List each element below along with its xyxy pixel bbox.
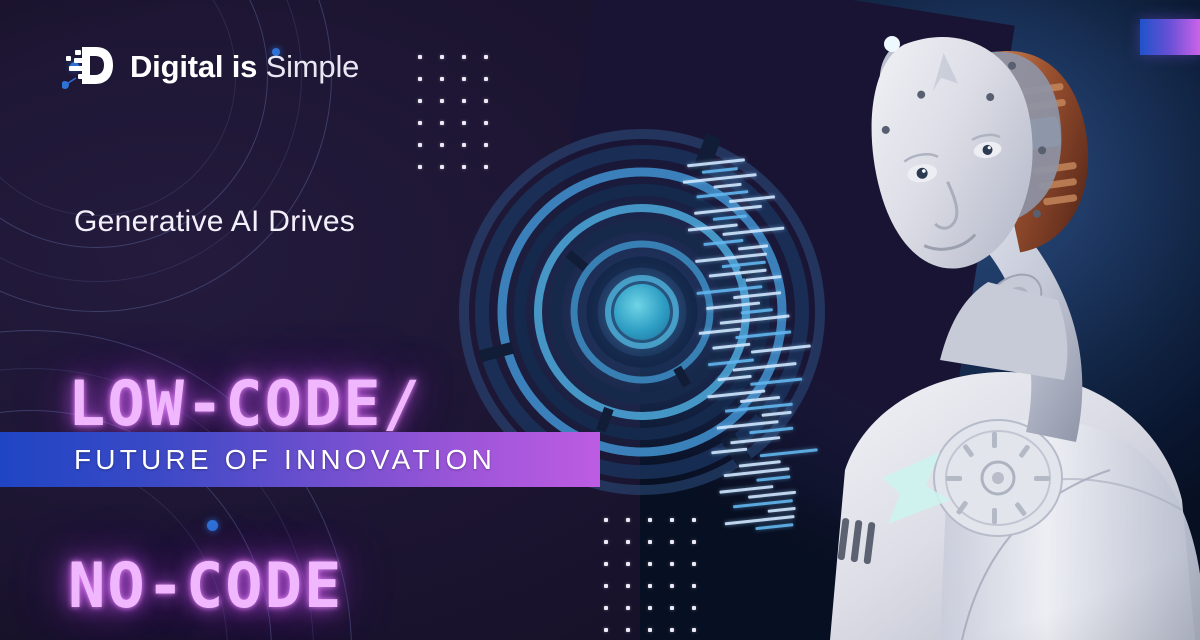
grid-dot	[648, 628, 652, 632]
grid-dot	[626, 606, 630, 610]
grid-dot	[626, 518, 630, 522]
promo-banner: Digital is Simple Generative AI Drives L…	[0, 0, 1200, 640]
grid-dot	[692, 606, 696, 610]
brand-name-bold: Digital is	[130, 49, 257, 84]
grid-dot	[648, 518, 652, 522]
grid-dot	[626, 584, 630, 588]
grid-dot	[484, 55, 488, 59]
hero-ribbon-label: FUTURE OF INNOVATION	[74, 444, 496, 476]
headline-line-2: NO-CODE	[68, 556, 422, 617]
grid-dot	[440, 143, 444, 147]
grid-dot	[626, 562, 630, 566]
grid-dot	[484, 165, 488, 169]
brand-logo[interactable]: Digital is Simple	[62, 44, 359, 90]
grid-dot	[670, 518, 674, 522]
brand-name: Digital is Simple	[130, 49, 359, 85]
grid-dot	[418, 143, 422, 147]
grid-dot	[670, 628, 674, 632]
grid-dot	[604, 562, 608, 566]
grid-dot	[692, 518, 696, 522]
corner-accent-bar	[1140, 19, 1200, 55]
digital-d-logo-icon	[62, 44, 114, 90]
grid-dot	[462, 77, 466, 81]
hero-ribbon: FUTURE OF INNOVATION	[0, 432, 600, 487]
grid-dot	[440, 165, 444, 169]
grid-dot	[670, 606, 674, 610]
grid-dot	[440, 121, 444, 125]
grid-dot	[440, 99, 444, 103]
grid-dot	[692, 562, 696, 566]
grid-dot	[462, 121, 466, 125]
grid-dot	[440, 55, 444, 59]
grid-dot	[670, 584, 674, 588]
grid-dot	[462, 165, 466, 169]
dot-grid-top	[418, 55, 506, 187]
brand-name-light: Simple	[266, 49, 360, 84]
grid-dot	[462, 143, 466, 147]
grid-dot	[692, 628, 696, 632]
grid-dot	[692, 584, 696, 588]
grid-dot	[648, 562, 652, 566]
grid-dot	[484, 99, 488, 103]
logo-mark-svg	[62, 44, 114, 90]
grid-dot	[626, 628, 630, 632]
dot-grid-bottom	[604, 518, 714, 640]
hero-eyebrow: Generative AI Drives	[74, 205, 355, 239]
grid-dot	[626, 540, 630, 544]
grid-dot	[648, 540, 652, 544]
grid-dot	[484, 77, 488, 81]
grid-dot	[604, 606, 608, 610]
grid-dot	[692, 540, 696, 544]
grid-dot	[604, 540, 608, 544]
grid-dot	[418, 55, 422, 59]
grid-dot	[604, 584, 608, 588]
grid-dot	[440, 77, 444, 81]
grid-dot	[462, 99, 466, 103]
grid-dot	[670, 540, 674, 544]
grid-dot	[648, 606, 652, 610]
grid-dot	[462, 55, 466, 59]
grid-dot	[484, 121, 488, 125]
grid-dot	[418, 165, 422, 169]
grid-dot	[604, 628, 608, 632]
grid-dot	[418, 121, 422, 125]
grid-dot	[648, 584, 652, 588]
grid-dot	[418, 77, 422, 81]
headline-line-1: LOW-CODE/	[68, 374, 422, 435]
grid-dot	[604, 518, 608, 522]
grid-dot	[484, 143, 488, 147]
grid-dot	[418, 99, 422, 103]
grid-dot	[670, 562, 674, 566]
